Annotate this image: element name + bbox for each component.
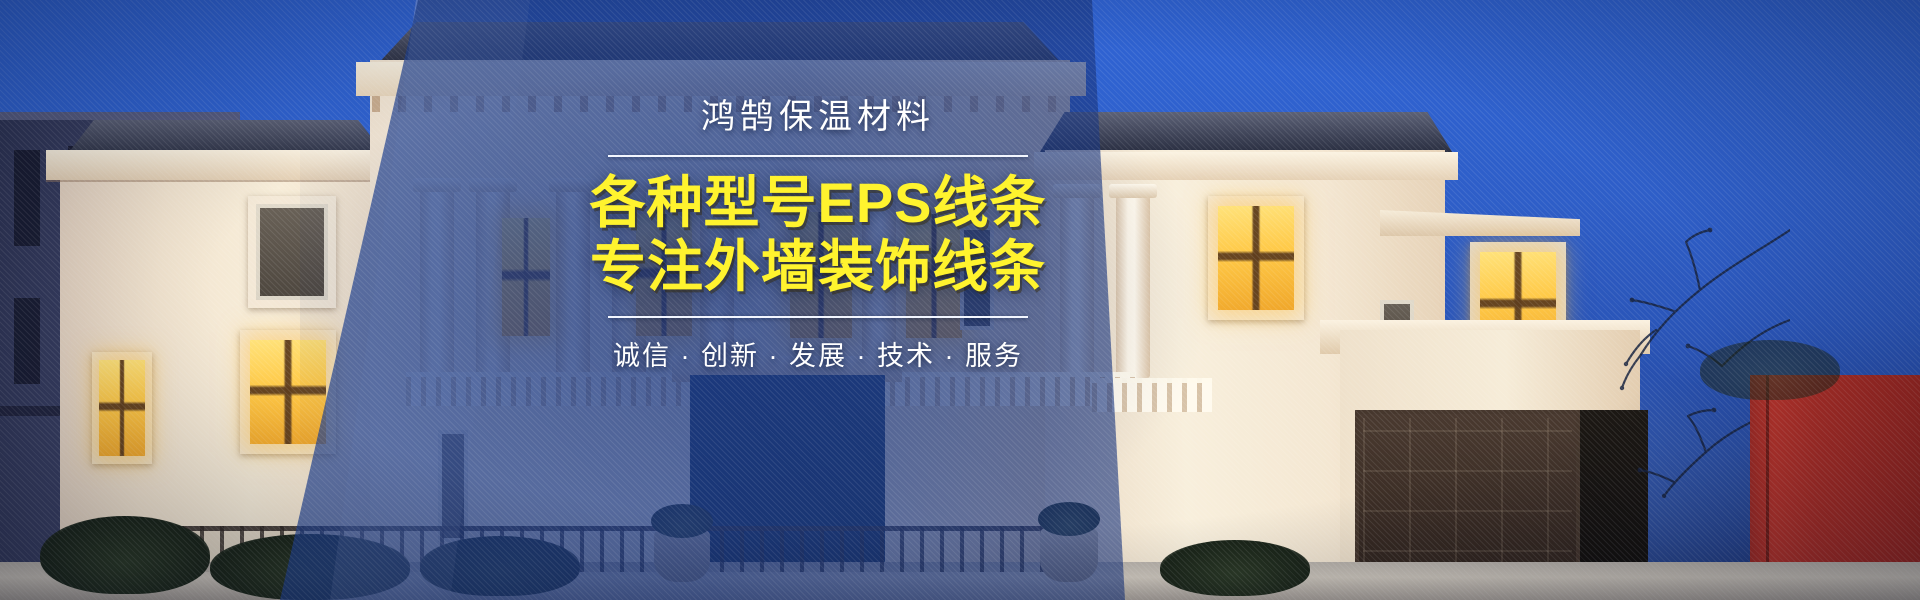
window-glow — [1218, 206, 1294, 310]
brand-name: 鸿鹄保温材料 — [558, 96, 1078, 139]
divider-top — [608, 155, 1028, 157]
shrub — [40, 516, 210, 594]
shrub — [1700, 340, 1840, 400]
window-glow — [99, 360, 145, 456]
tagline: 诚信 · 创新 · 发展 · 技术 · 服务 — [558, 334, 1078, 373]
headline-line-2: 专注外墙装饰线条 — [558, 235, 1078, 300]
banner-copy: 鸿鹄保温材料 各种型号EPS线条 专注外墙装饰线条 诚信 · 创新 · 发展 ·… — [558, 96, 1078, 373]
divider-bottom — [608, 316, 1028, 318]
headline-line-1: 各种型号EPS线条 — [558, 171, 1078, 236]
tree-branches-icon — [1460, 170, 1790, 500]
hero-banner: 鸿鹄保温材料 各种型号EPS线条 专注外墙装饰线条 诚信 · 创新 · 发展 ·… — [0, 0, 1920, 600]
